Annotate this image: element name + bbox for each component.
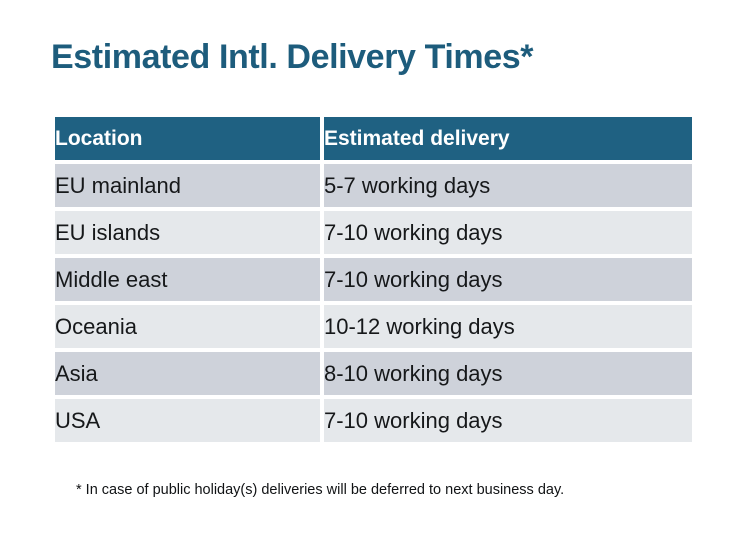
cell-location: USA (55, 399, 320, 442)
table-header-row: Location Estimated delivery (55, 117, 692, 160)
cell-delivery: 5-7 working days (324, 164, 692, 207)
table-header: Location Estimated delivery (55, 117, 692, 160)
page-title: Estimated Intl. Delivery Times* (51, 38, 533, 77)
cell-delivery: 7-10 working days (324, 211, 692, 254)
cell-delivery: 8-10 working days (324, 352, 692, 395)
cell-location: EU islands (55, 211, 320, 254)
footnote-text: * In case of public holiday(s) deliverie… (76, 482, 564, 498)
table-row: Oceania 10-12 working days (55, 305, 692, 348)
table-row: Asia 8-10 working days (55, 352, 692, 395)
column-header-location: Location (55, 117, 320, 160)
table-row: Middle east 7-10 working days (55, 258, 692, 301)
table-row: USA 7-10 working days (55, 399, 692, 442)
cell-location: Asia (55, 352, 320, 395)
table-body: EU mainland 5-7 working days EU islands … (55, 164, 692, 442)
delivery-times-page: Estimated Intl. Delivery Times* Location… (0, 0, 745, 536)
cell-location: EU mainland (55, 164, 320, 207)
cell-delivery: 10-12 working days (324, 305, 692, 348)
column-header-estimated-delivery: Estimated delivery (324, 117, 692, 160)
table-row: EU islands 7-10 working days (55, 211, 692, 254)
delivery-times-table: Location Estimated delivery EU mainland … (51, 113, 696, 446)
cell-location: Middle east (55, 258, 320, 301)
table-row: EU mainland 5-7 working days (55, 164, 692, 207)
cell-location: Oceania (55, 305, 320, 348)
cell-delivery: 7-10 working days (324, 258, 692, 301)
cell-delivery: 7-10 working days (324, 399, 692, 442)
